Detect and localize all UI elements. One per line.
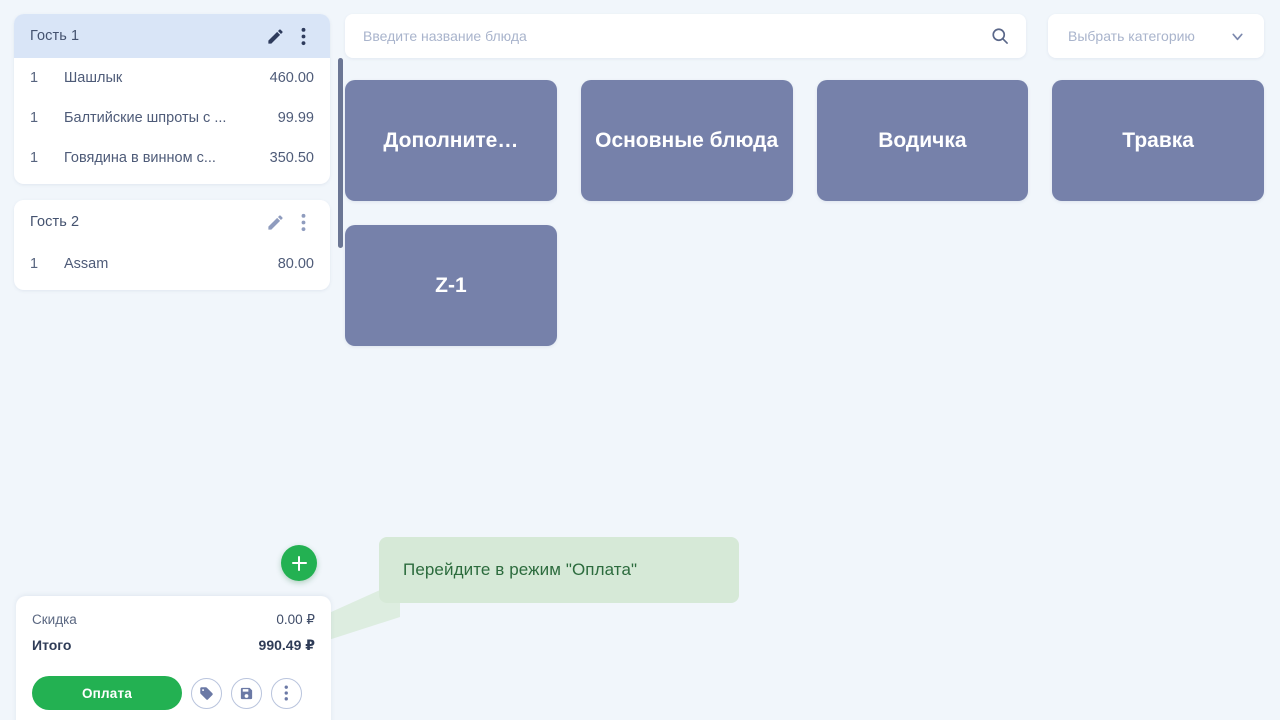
item-name: Говядина в винном с... — [64, 150, 270, 166]
order-panel-scrollbar[interactable] — [338, 58, 343, 248]
item-price: 350.50 — [270, 150, 314, 166]
order-item-row[interactable]: 1 Говядина в винном с... 350.50 — [14, 138, 330, 178]
category-tile-2[interactable]: Водичка — [817, 80, 1029, 201]
discount-row: Скидка 0.00 ₽ — [32, 612, 315, 628]
category-select-label: Выбрать категорию — [1068, 28, 1195, 44]
item-quantity: 1 — [30, 150, 64, 166]
item-price: 80.00 — [278, 256, 314, 272]
item-name: Балтийские шпроты с ... — [64, 110, 278, 126]
guest-card[interactable]: Гость 1 1 Шашлык 460.00 1 — [14, 14, 330, 184]
add-guest-button[interactable] — [281, 545, 317, 581]
guest-header-2[interactable]: Гость 2 — [14, 200, 330, 244]
guest-card[interactable]: Гость 2 1 Assam 80.00 — [14, 200, 330, 290]
item-price: 99.99 — [278, 110, 314, 126]
search-input[interactable] — [363, 28, 990, 44]
total-row: Итого 990.49 ₽ — [32, 637, 315, 654]
category-grid: Дополните… Основные блюда Водичка Травка… — [345, 80, 1264, 346]
order-item-row[interactable]: 1 Шашлык 460.00 — [14, 58, 330, 98]
order-item-row[interactable]: 1 Assam 80.00 — [14, 244, 330, 284]
item-quantity: 1 — [30, 256, 64, 272]
pencil-icon[interactable] — [262, 209, 288, 235]
search-box[interactable] — [345, 14, 1026, 58]
discount-label: Скидка — [32, 612, 77, 627]
more-vertical-icon[interactable] — [271, 678, 302, 709]
guest-title: Гость 1 — [30, 28, 260, 44]
order-summary-card: Скидка 0.00 ₽ Итого 990.49 ₽ Оплата — [16, 596, 331, 720]
search-icon[interactable] — [990, 26, 1010, 46]
category-tile-0[interactable]: Дополните… — [345, 80, 557, 201]
item-quantity: 1 — [30, 110, 64, 126]
tooltip-callout[interactable]: Перейдите в режим "Оплата" — [379, 537, 739, 603]
guest-title: Гость 2 — [30, 214, 260, 230]
discount-value: 0.00 ₽ — [276, 612, 315, 628]
order-action-bar: Оплата — [32, 676, 315, 710]
item-price: 460.00 — [270, 70, 314, 86]
chevron-down-icon[interactable] — [1229, 28, 1246, 45]
category-tile-3[interactable]: Травка — [1052, 80, 1264, 201]
search-row: Выбрать категорию — [345, 14, 1264, 58]
category-select[interactable]: Выбрать категорию — [1048, 14, 1264, 58]
item-name: Assam — [64, 256, 278, 272]
pencil-icon[interactable] — [262, 23, 288, 49]
more-vertical-icon[interactable] — [290, 23, 316, 49]
menu-area: Выбрать категорию Дополните… Основные бл… — [344, 0, 1280, 720]
guest-list: Гость 1 1 Шашлык 460.00 1 — [0, 0, 344, 540]
tooltip-text: Перейдите в режим "Оплата" — [403, 560, 637, 580]
guest-header-1[interactable]: Гость 1 — [14, 14, 330, 58]
category-tile-1[interactable]: Основные блюда — [581, 80, 793, 201]
order-item-row[interactable]: 1 Балтийские шпроты с ... 99.99 — [14, 98, 330, 138]
save-icon[interactable] — [231, 678, 262, 709]
item-name: Шашлык — [64, 70, 270, 86]
total-label: Итого — [32, 637, 71, 653]
category-tile-4[interactable]: Z-1 — [345, 225, 557, 346]
more-vertical-icon[interactable] — [290, 209, 316, 235]
pay-button[interactable]: Оплата — [32, 676, 182, 710]
item-quantity: 1 — [30, 70, 64, 86]
tag-icon[interactable] — [191, 678, 222, 709]
total-value: 990.49 ₽ — [259, 637, 315, 654]
